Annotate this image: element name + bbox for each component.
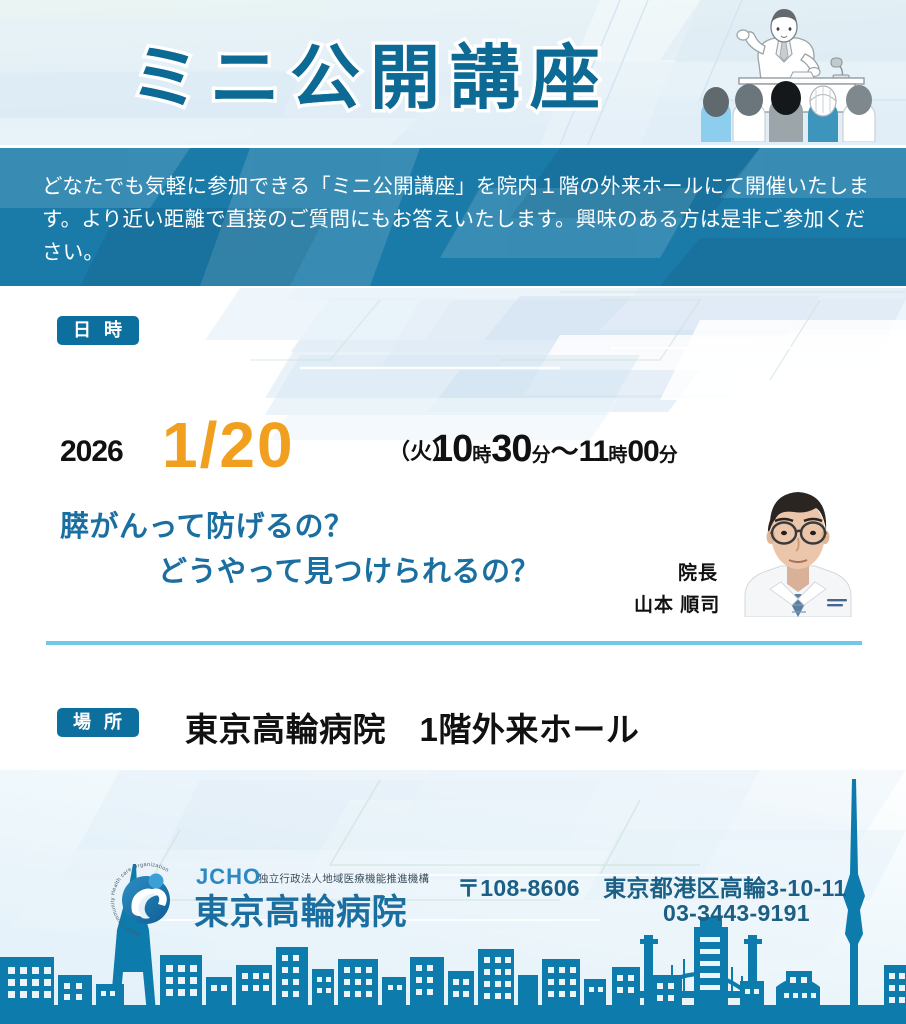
speaker-role: 院長 [678,558,718,585]
minute-unit-start: 分 [532,445,551,466]
venue-badge: 場 所 [57,708,139,737]
page-title-fill: ミニ公開講座 [130,22,610,123]
hospital-logo: Japan Community Health care Organization… [110,858,420,938]
start-minute: 30 [491,428,531,470]
date-year: 2026 [60,435,123,469]
footer-phone: 03-3443-9191 [663,900,810,927]
lecture-title-line1: 膵がんって防げるの？ [60,511,354,543]
speaker-portrait-illustration [737,472,859,617]
end-hour: 11 [579,435,609,468]
footer-address: 〒108-8606 東京都港区高輪3-10-11 [457,869,846,903]
hour-unit-start: 時 [472,445,491,466]
footer: Japan Community Health care Organization… [0,770,906,1024]
jcho-circular-logo-icon: Japan Community Health care Organization [110,862,186,938]
datetime-badge: 日 時 [57,316,139,345]
time-tilde: 〜 [551,436,579,467]
minute-unit-end: 分 [659,445,678,466]
venue-text: 東京高輪病院 1階外来ホール [185,703,639,751]
datetime-row: 2026 1/20 （火） 10時30分〜11時00分 [0,405,906,471]
logo-hospital-name: 東京高輪病院 [194,884,407,935]
intro-panel: どなたでも気軽に参加できる「ミニ公開講座」を院内１階の外来ホールにて開催いたしま… [0,148,906,286]
header-banner: ミニ公開講座 ミニ公開講座 [0,0,906,145]
start-hour: 10 [432,428,472,470]
lecture-podium-illustration [681,2,896,142]
lecture-title: 膵がんって防げるの？ どうやって見つけられるの？ [60,505,660,595]
intro-text: どなたでも気軽に参加できる「ミニ公開講座」を院内１階の外来ホールにて開催いたしま… [42,170,872,270]
speaker-photo [737,472,859,617]
section-divider [46,641,862,645]
end-minute: 00 [627,435,658,468]
lecture-title-line2: どうやって見つけられるの？ [60,550,660,595]
speaker-name: 山本 順司 [634,590,720,617]
time-range: 10時30分〜11時00分 [432,428,678,471]
poster-root: ミニ公開講座 ミニ公開講座 [0,0,906,1024]
date-month-day: 1/20 [162,413,295,477]
hour-unit-end: 時 [608,445,627,466]
